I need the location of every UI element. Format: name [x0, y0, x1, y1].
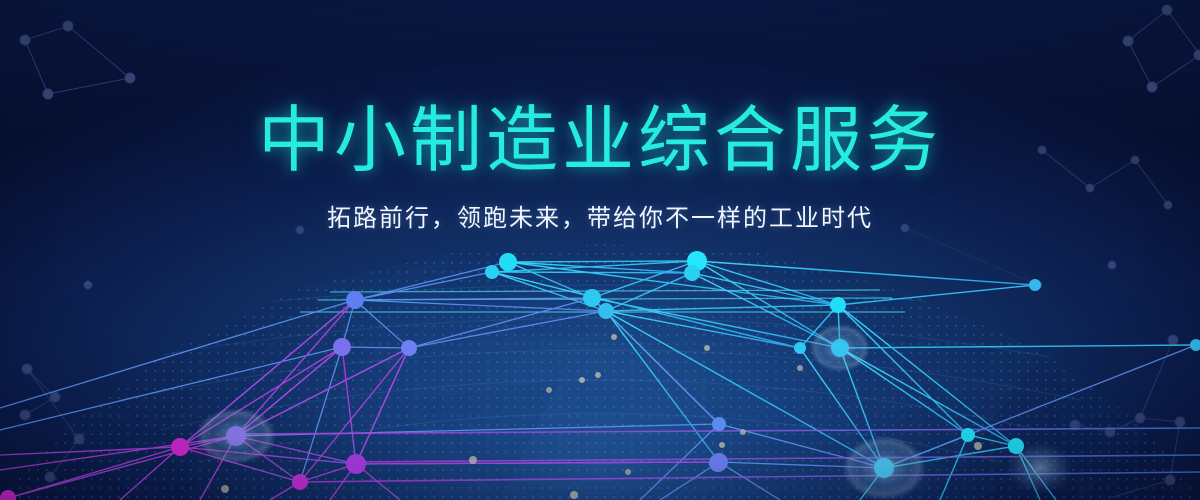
- hero-banner: 中小制造业综合服务 拓路前行，领跑未来，带给你不一样的工业时代: [0, 0, 1200, 500]
- background-vignette: [0, 0, 1200, 500]
